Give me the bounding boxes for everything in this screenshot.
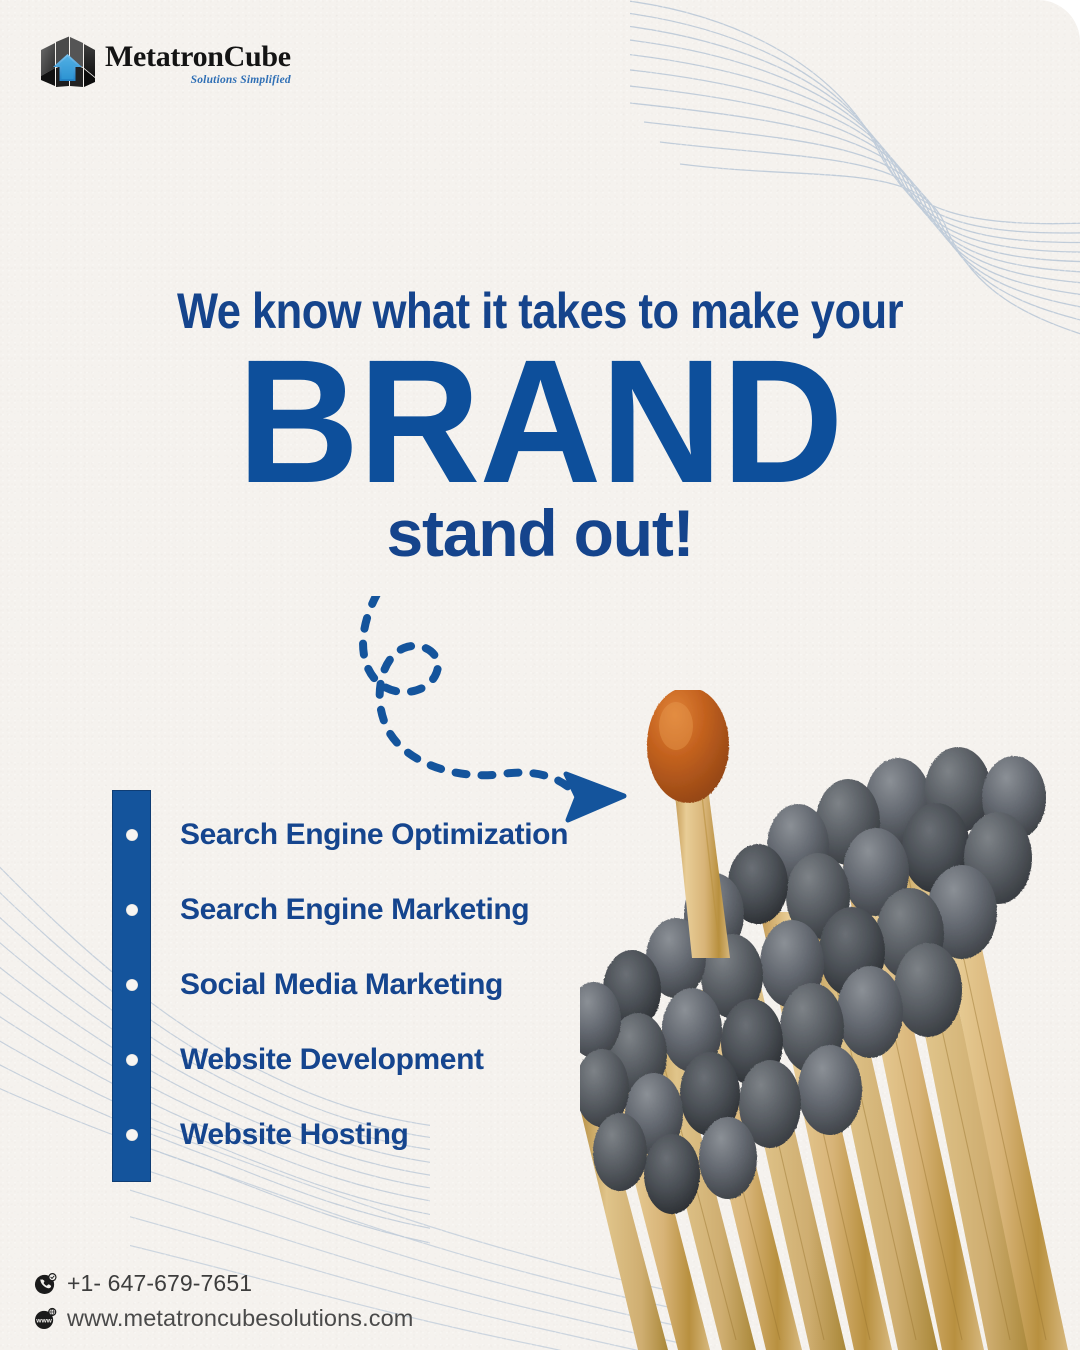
logo-wordmark: MetatronCube Solutions Simplified: [105, 42, 291, 87]
services-list: Search Engine Optimization Search Engine…: [112, 790, 632, 1182]
service-label: Website Hosting: [180, 1118, 408, 1152]
dot-bullet-icon: [112, 1129, 151, 1141]
service-label: Social Media Marketing: [180, 968, 503, 1002]
logo-company-name: MetatronCube: [105, 42, 291, 72]
headline-block: We know what it takes to make your BRAND…: [0, 286, 1080, 566]
website-url: www.metatroncubesolutions.com: [67, 1305, 413, 1332]
service-label: Search Engine Optimization: [180, 818, 568, 852]
logo-tagline: Solutions Simplified: [105, 75, 291, 87]
list-item[interactable]: Search Engine Optimization: [112, 818, 632, 852]
list-item[interactable]: Search Engine Marketing: [112, 893, 632, 927]
list-item[interactable]: Social Media Marketing: [112, 968, 632, 1002]
service-label: Search Engine Marketing: [180, 893, 529, 927]
service-label: Website Development: [180, 1043, 484, 1077]
cube-logo-icon: [38, 36, 96, 92]
dot-bullet-icon: [112, 904, 151, 916]
matchsticks-photo: [580, 690, 1080, 1350]
phone-number: +1- 647-679-7651: [67, 1270, 252, 1297]
footer-contact: +1- 647-679-7651 www www.metatroncubesol…: [34, 1262, 413, 1332]
dot-bullet-icon: [112, 979, 151, 991]
headline-brand-word: BRAND: [22, 342, 1059, 504]
dot-bullet-icon: [112, 829, 151, 841]
dot-bullet-icon: [112, 1054, 151, 1066]
contact-phone-row[interactable]: +1- 647-679-7651: [34, 1270, 413, 1297]
svg-text:www: www: [35, 1317, 52, 1324]
poster-canvas: MetatronCube Solutions Simplified We kno…: [0, 0, 1080, 1350]
phone-icon: [34, 1272, 57, 1295]
globe-www-icon: www: [34, 1307, 57, 1330]
contact-website-row[interactable]: www www.metatroncubesolutions.com: [34, 1305, 413, 1332]
brand-logo[interactable]: MetatronCube Solutions Simplified: [38, 36, 291, 92]
list-item[interactable]: Website Hosting: [112, 1118, 632, 1152]
list-item[interactable]: Website Development: [112, 1043, 632, 1077]
